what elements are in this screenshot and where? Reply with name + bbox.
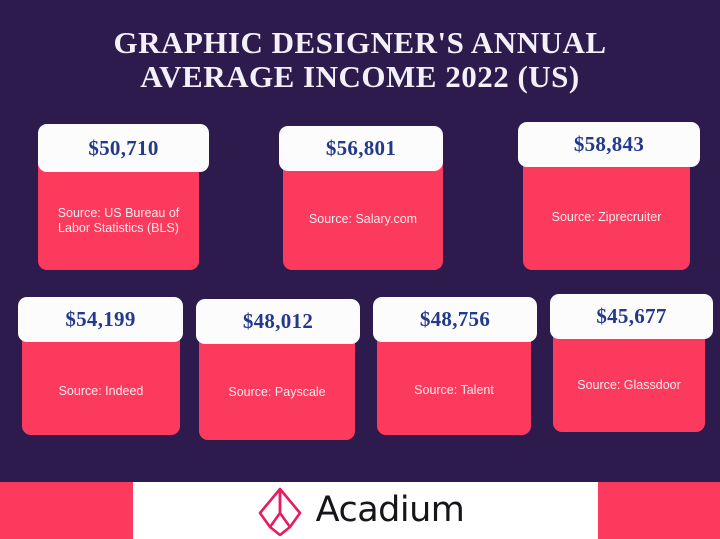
card-value-box: $58,843 [518, 122, 700, 167]
brand-logo: Acadium [0, 482, 720, 539]
title-line-2: AVERAGE INCOME 2022 (US) [0, 60, 720, 94]
card-value: $45,677 [596, 304, 666, 329]
title-line-1: GRAPHIC DESIGNER'S ANNUAL [0, 26, 720, 60]
brand-name: Acadium [316, 493, 465, 528]
card-source-label: Source: Indeed [59, 358, 144, 399]
infographic-canvas: GRAPHIC DESIGNER'S ANNUAL AVERAGE INCOME… [0, 0, 720, 539]
card-source-label: Source: Ziprecruiter [552, 188, 662, 225]
card-value: $56,801 [326, 136, 396, 161]
footer-bar: Acadium [0, 482, 720, 539]
card-value-box: $54,199 [18, 297, 183, 342]
acadium-diamond-icon [256, 486, 304, 536]
page-title: GRAPHIC DESIGNER'S ANNUAL AVERAGE INCOME… [0, 26, 720, 94]
card-value-box: $48,756 [373, 297, 537, 342]
card-value-box: $45,677 [550, 294, 713, 339]
card-source-label: Source: US Bureau of Labor Statistics (B… [46, 182, 191, 236]
card-source-label: Source: Talent [414, 359, 494, 398]
card-value-box: $56,801 [279, 126, 443, 171]
card-source-label: Source: Salary.com [309, 192, 417, 227]
card-source-label: Source: Payscale [228, 363, 325, 400]
card-value: $54,199 [65, 307, 135, 332]
card-value: $48,012 [243, 309, 313, 334]
card-value: $58,843 [574, 132, 644, 157]
card-value-box: $50,710 [38, 124, 209, 172]
card-source-label: Source: Glassdoor [577, 356, 681, 393]
card-value-box: $48,012 [196, 299, 360, 344]
card-value: $48,756 [420, 307, 490, 332]
card-value: $50,710 [88, 136, 158, 161]
